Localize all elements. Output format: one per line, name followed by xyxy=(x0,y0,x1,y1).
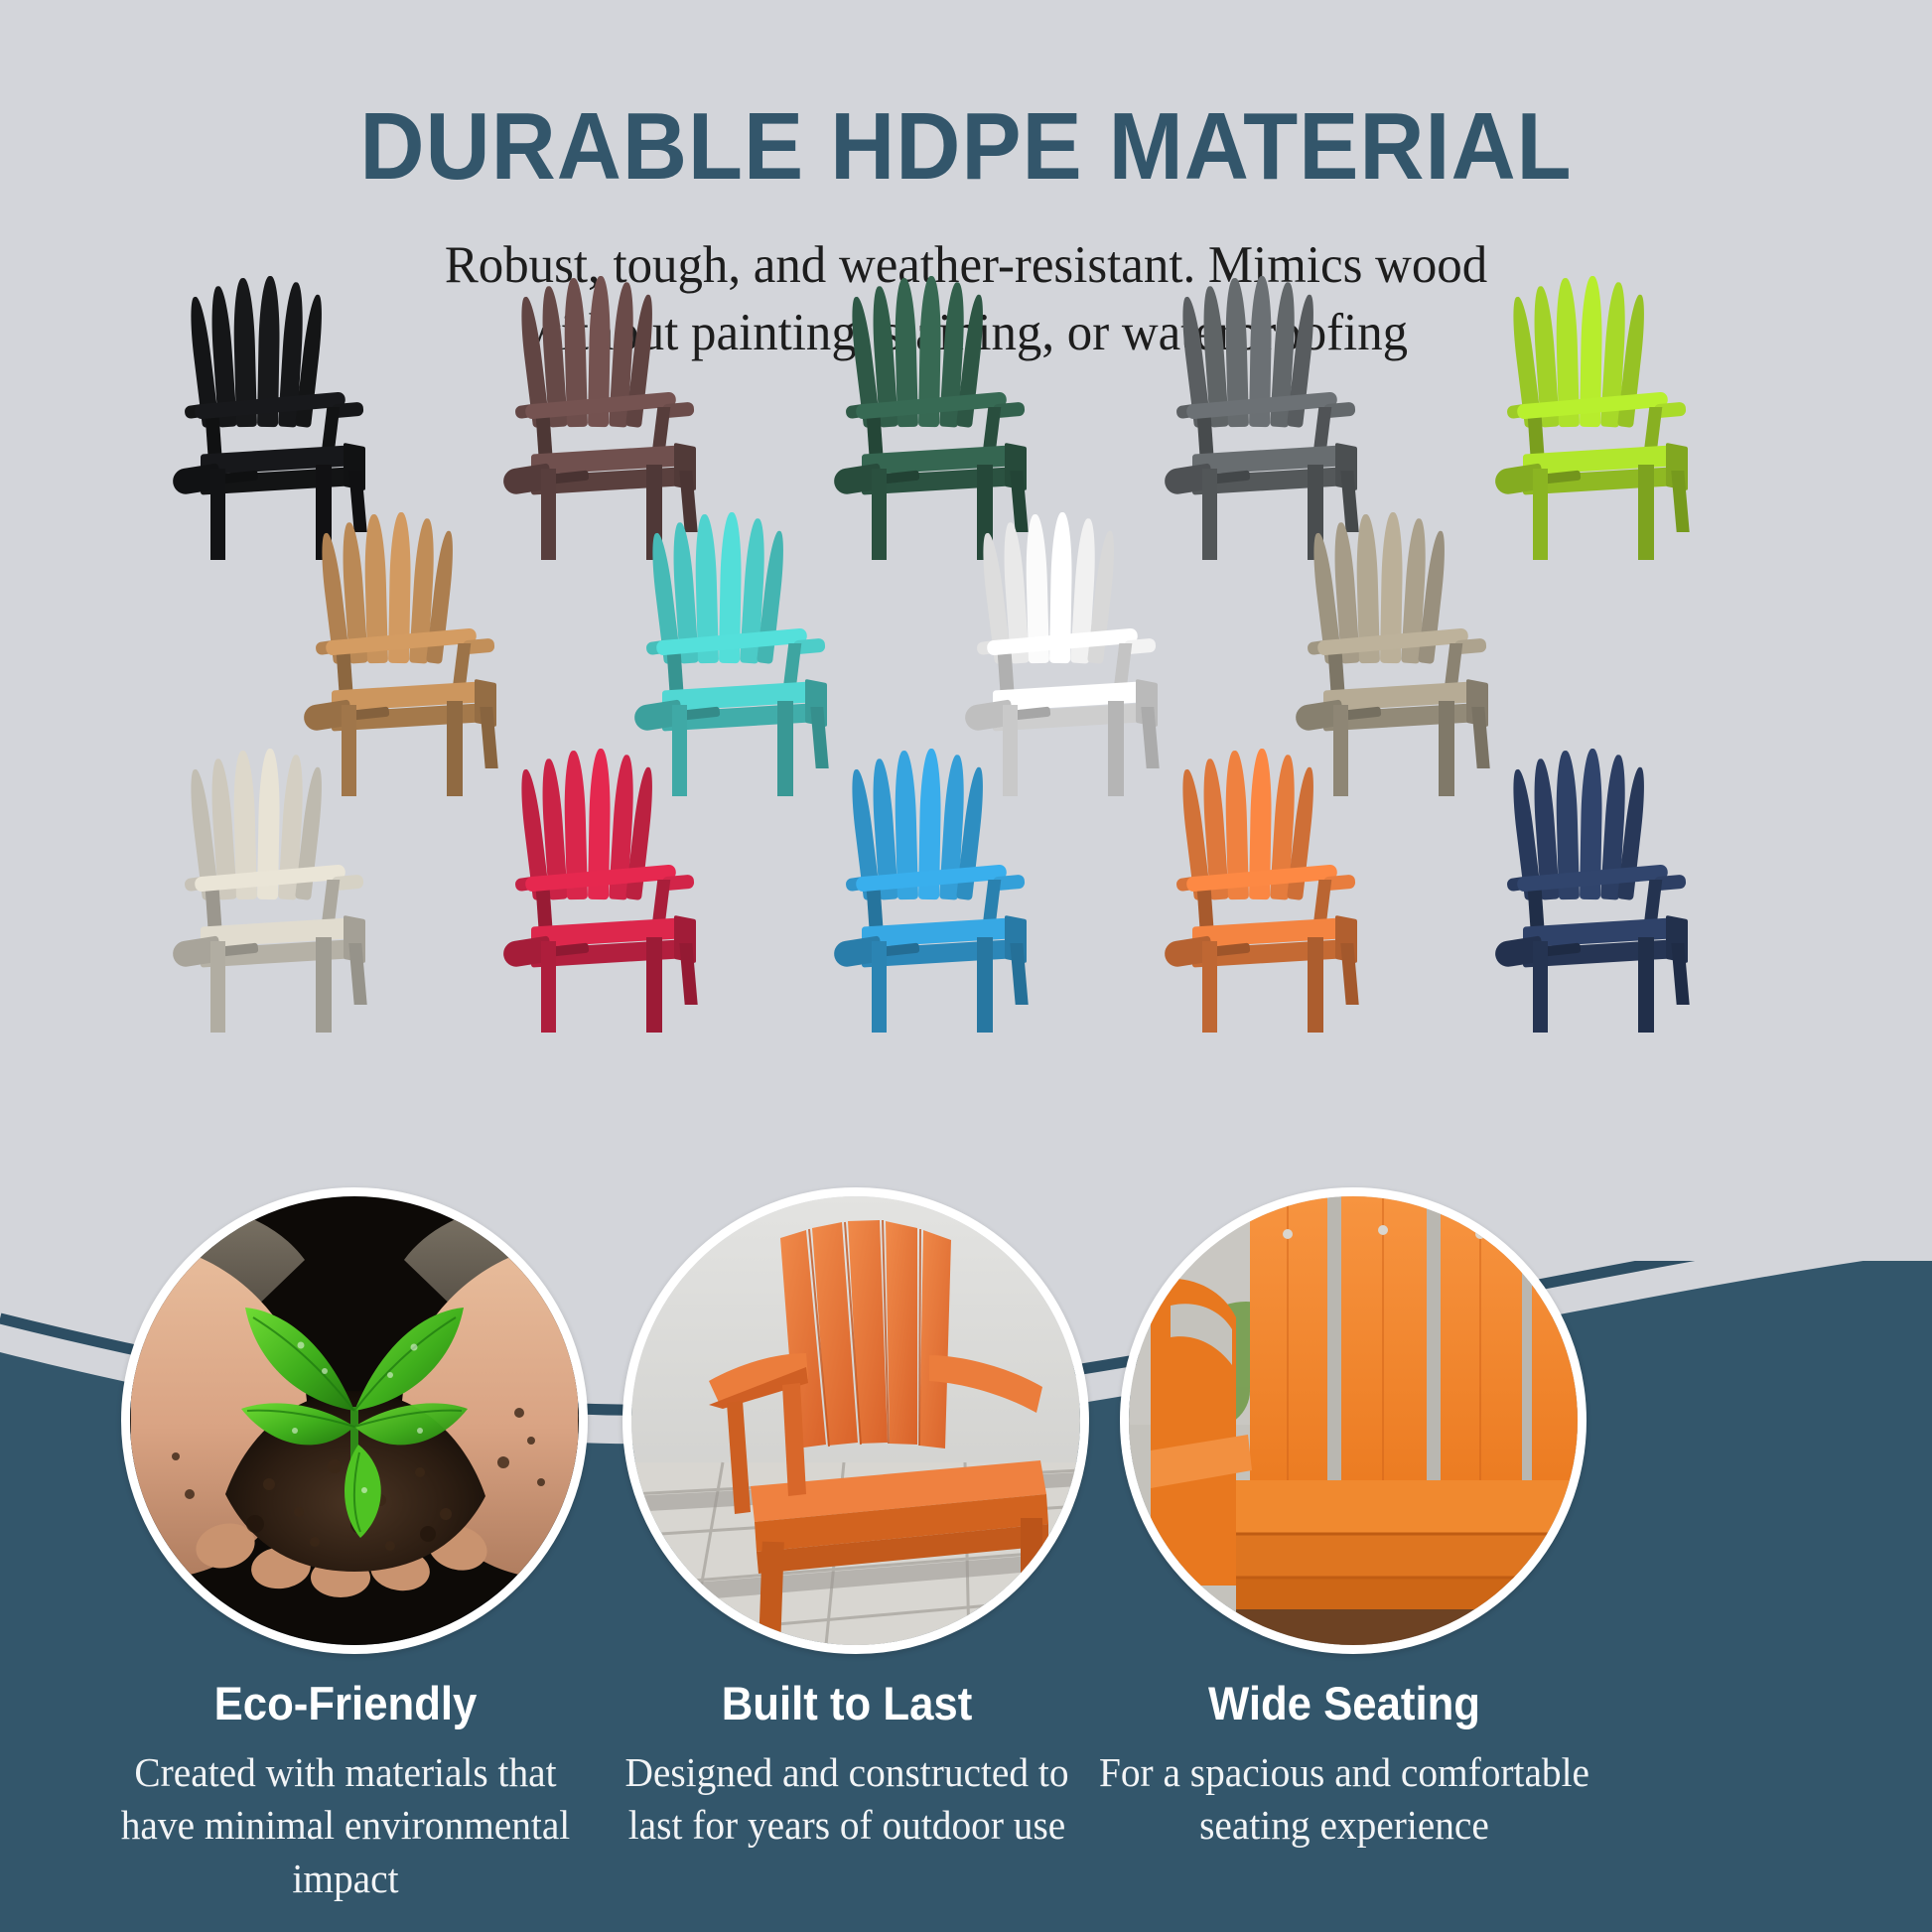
feature-photo-wide-seating xyxy=(1120,1187,1587,1654)
feature-description: Created with materials that have minimal… xyxy=(97,1746,593,1905)
feature-title: Built to Last xyxy=(607,1676,1087,1730)
feature-wide-seating: Wide Seating For a spacious and comforta… xyxy=(1086,1676,1602,1853)
feature-photo-built-to-last xyxy=(622,1187,1089,1654)
feature-description: Designed and constructed to last for yea… xyxy=(599,1746,1094,1853)
feature-photos xyxy=(0,0,1932,1932)
feature-title: Eco-Friendly xyxy=(105,1676,586,1730)
feature-photo-eco-friendly xyxy=(121,1187,588,1654)
feature-title: Wide Seating xyxy=(1104,1676,1585,1730)
feature-eco-friendly: Eco-Friendly Created with materials that… xyxy=(87,1676,604,1905)
feature-description: For a spacious and comfortable seating e… xyxy=(1096,1746,1591,1853)
infographic-canvas: DURABLE HDPE MATERIAL Robust, tough, and… xyxy=(0,0,1932,1932)
feature-built-to-last: Built to Last Designed and constructed t… xyxy=(589,1676,1105,1853)
